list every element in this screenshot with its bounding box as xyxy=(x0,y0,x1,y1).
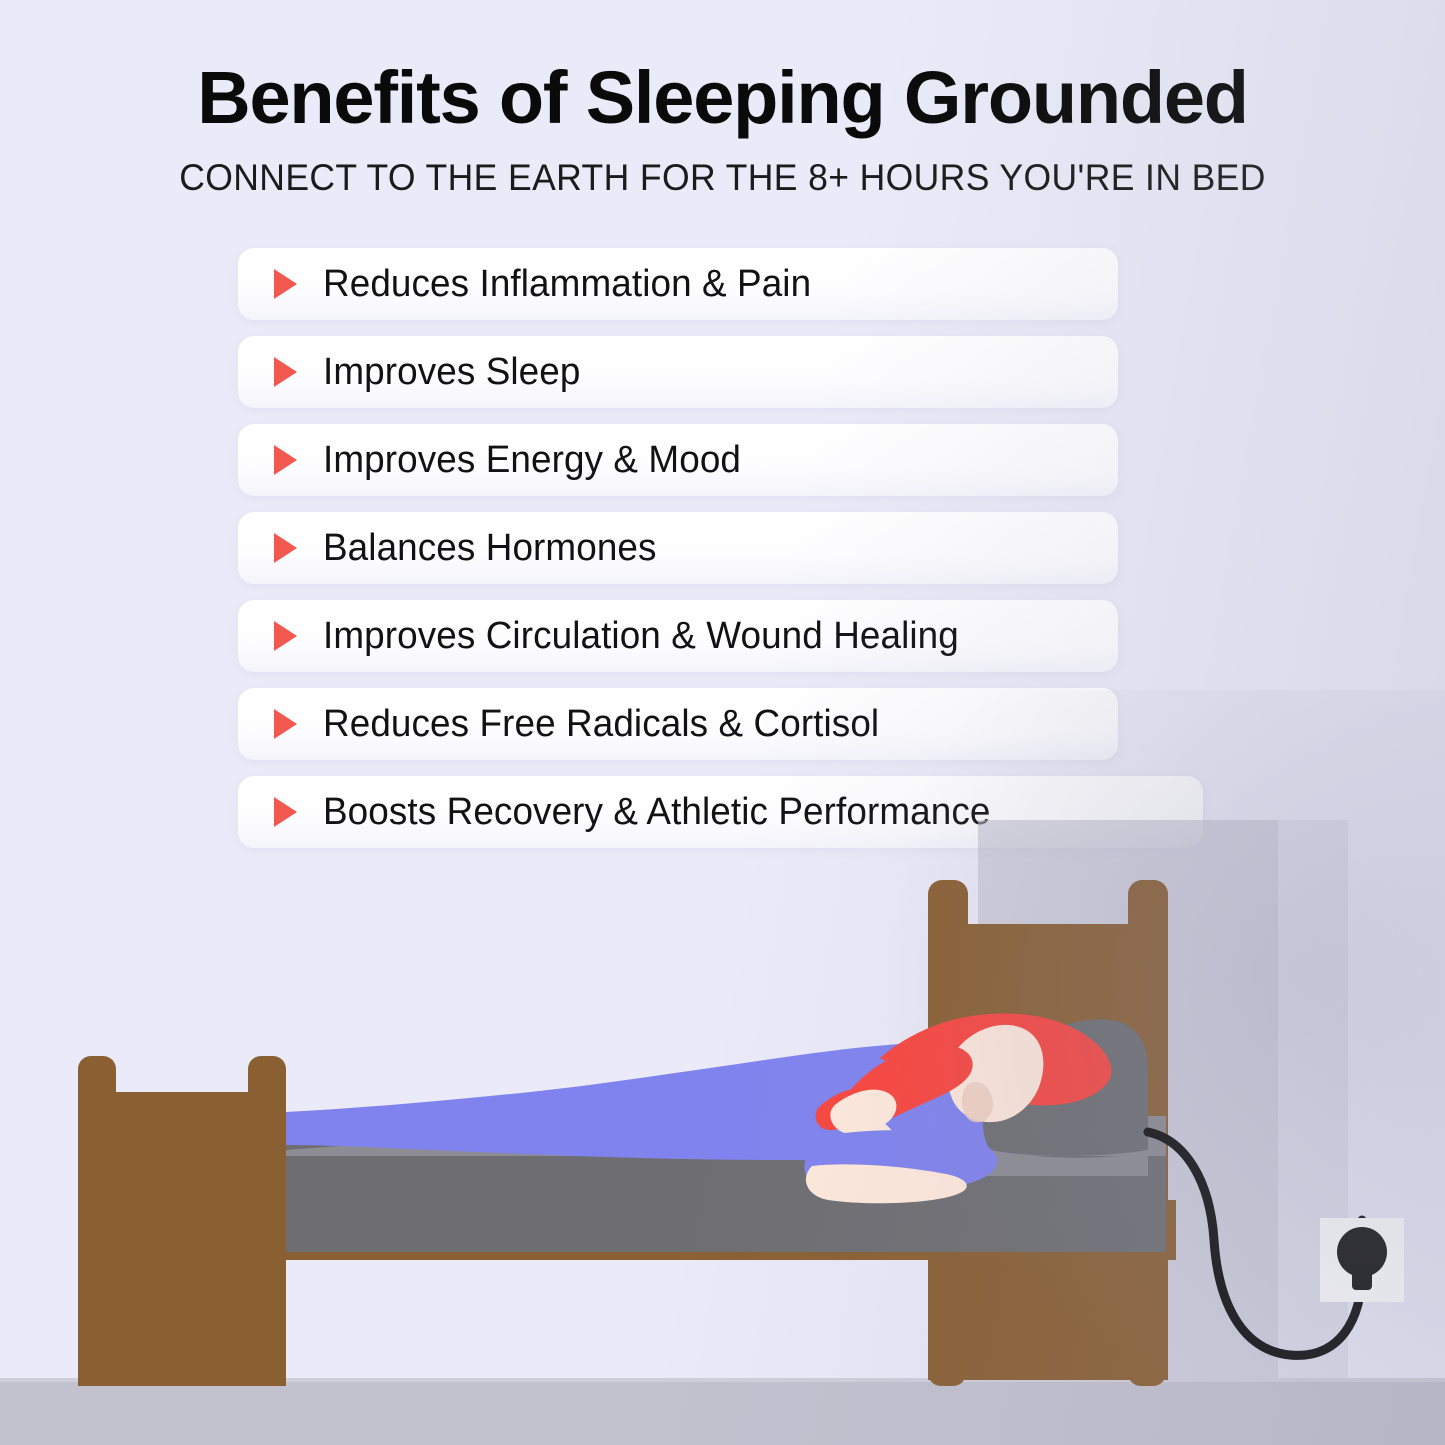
triangle-right-icon xyxy=(274,445,297,475)
header: Benefits of Sleeping Grounded CONNECT TO… xyxy=(0,0,1445,199)
floor xyxy=(0,1378,1445,1445)
benefits-list: Reduces Inflammation & Pain Improves Sle… xyxy=(238,248,1218,864)
triangle-right-icon xyxy=(274,269,297,299)
benefit-label: Improves Circulation & Wound Healing xyxy=(323,615,959,658)
infographic-poster: Benefits of Sleeping Grounded CONNECT TO… xyxy=(0,0,1445,1445)
benefit-label: Reduces Free Radicals & Cortisol xyxy=(323,703,879,746)
list-item[interactable]: Improves Energy & Mood xyxy=(238,424,1118,496)
list-item[interactable]: Balances Hormones xyxy=(238,512,1118,584)
benefit-label: Balances Hormones xyxy=(323,527,657,570)
list-item[interactable]: Improves Circulation & Wound Healing xyxy=(238,600,1118,672)
triangle-right-icon xyxy=(274,357,297,387)
list-item[interactable]: Reduces Free Radicals & Cortisol xyxy=(238,688,1118,760)
bed-illustration xyxy=(0,820,1445,1445)
triangle-right-icon xyxy=(274,621,297,651)
bed-leg xyxy=(1128,1250,1166,1386)
benefit-label: Improves Energy & Mood xyxy=(323,439,741,482)
benefit-label: Reduces Inflammation & Pain xyxy=(323,263,811,306)
bed-leg xyxy=(928,1250,966,1386)
outlet-plug-prong xyxy=(1352,1268,1372,1290)
page-subtitle: CONNECT TO THE EARTH FOR THE 8+ HOURS YO… xyxy=(29,157,1416,199)
list-item[interactable]: Reduces Inflammation & Pain xyxy=(238,248,1118,320)
triangle-right-icon xyxy=(274,533,297,563)
triangle-right-icon xyxy=(274,709,297,739)
benefit-label: Improves Sleep xyxy=(323,351,580,394)
bed-leg xyxy=(248,1250,286,1386)
list-item[interactable]: Improves Sleep xyxy=(238,336,1118,408)
page-title: Benefits of Sleeping Grounded xyxy=(0,60,1445,135)
bed-leg xyxy=(78,1250,116,1386)
